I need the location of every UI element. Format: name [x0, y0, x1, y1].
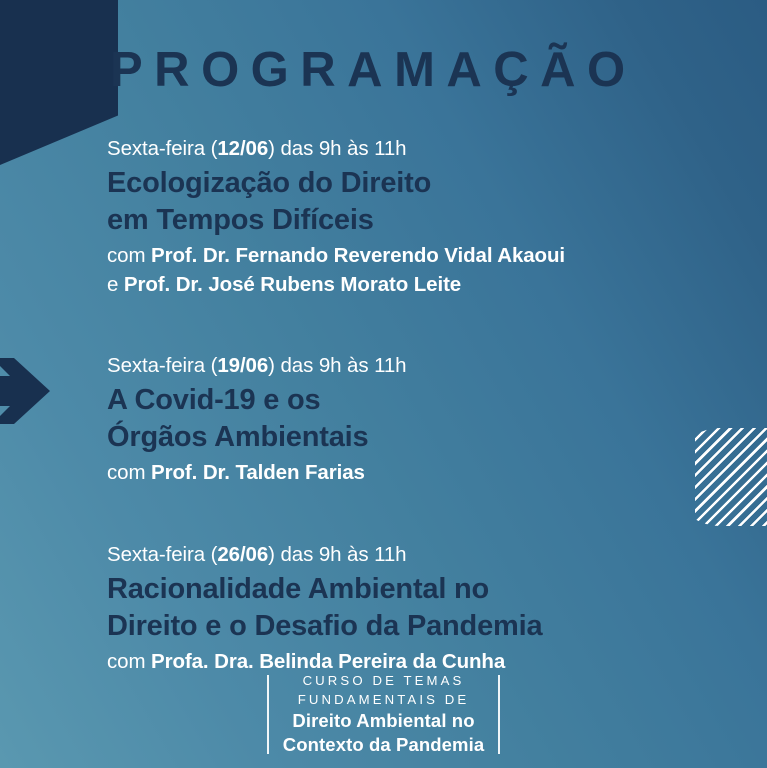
logo-text: CURSO DE TEMAS FUNDAMENTAIS DE Direito A…: [283, 672, 484, 757]
logo-line-3: Direito Ambiental no: [283, 709, 484, 733]
navy-corner-shape: [0, 0, 118, 165]
event-date-value: 26/06: [217, 543, 268, 566]
right-arrow-icon: [0, 355, 52, 427]
event-speaker-line: e Prof. Dr. José Rubens Morato Leite: [107, 271, 727, 299]
speaker-name: Profa. Dra. Belinda Pereira da Cunha: [151, 650, 505, 673]
logo-divider-left: [267, 675, 269, 754]
event-date-suffix: ) das 9h às 11h: [268, 543, 406, 566]
speaker-lead: e: [107, 273, 124, 296]
page-title: PROGRAMAÇÃO: [110, 45, 637, 96]
event-date-suffix: ) das 9h às 11h: [268, 137, 406, 160]
event-speakers: com Prof. Dr. Talden Farias: [107, 459, 727, 487]
event-title: A Covid-19 e os Órgãos Ambientais: [107, 382, 727, 456]
event-date: Sexta-feira (26/06) das 9h às 11h: [107, 540, 727, 569]
logo-divider-right: [498, 675, 500, 754]
event-date: Sexta-feira (12/06) das 9h às 11h: [107, 134, 727, 163]
event-date-prefix: Sexta-feira (: [107, 543, 217, 566]
event-speaker-line: com Prof. Dr. Fernando Reverendo Vidal A…: [107, 242, 727, 270]
speaker-name: Prof. Dr. José Rubens Morato Leite: [124, 273, 461, 296]
event-title-line: A Covid-19 e os: [107, 382, 727, 419]
speaker-name: Prof. Dr. Fernando Reverendo Vidal Akaou…: [151, 244, 565, 267]
logo-line-4: Contexto da Pandemia: [283, 733, 484, 757]
event-title-line: em Tempos Difíceis: [107, 202, 727, 239]
event-date-value: 19/06: [217, 354, 268, 377]
schedule-item: Sexta-feira (12/06) das 9h às 11h Ecolog…: [107, 134, 727, 299]
event-speakers: com Prof. Dr. Fernando Reverendo Vidal A…: [107, 242, 727, 299]
event-date-value: 12/06: [217, 137, 268, 160]
event-title-line: Órgãos Ambientais: [107, 419, 727, 456]
event-date-prefix: Sexta-feira (: [107, 354, 217, 377]
speaker-name: Prof. Dr. Talden Farias: [151, 461, 365, 484]
event-speaker-line: com Prof. Dr. Talden Farias: [107, 459, 727, 487]
speaker-lead: com: [107, 244, 151, 267]
speaker-lead: com: [107, 650, 151, 673]
speaker-lead: com: [107, 461, 151, 484]
poster-canvas: PROGRAMAÇÃO Sexta-feira (12/06) das 9h à…: [0, 0, 767, 768]
schedule-list: Sexta-feira (12/06) das 9h às 11h Ecolog…: [107, 134, 727, 676]
event-date-prefix: Sexta-feira (: [107, 137, 217, 160]
logo-line-1: CURSO DE TEMAS: [283, 672, 484, 691]
footer-logo: CURSO DE TEMAS FUNDAMENTAIS DE Direito A…: [0, 672, 767, 757]
event-title: Ecologização do Direito em Tempos Difíce…: [107, 165, 727, 239]
schedule-item: Sexta-feira (26/06) das 9h às 11h Racion…: [107, 540, 727, 677]
event-title-line: Direito e o Desafio da Pandemia: [107, 608, 727, 645]
schedule-item: Sexta-feira (19/06) das 9h às 11h A Covi…: [107, 351, 727, 488]
event-date: Sexta-feira (19/06) das 9h às 11h: [107, 351, 727, 380]
event-title: Racionalidade Ambiental no Direito e o D…: [107, 571, 727, 645]
event-title-line: Ecologização do Direito: [107, 165, 727, 202]
logo-line-2: FUNDAMENTAIS DE: [283, 691, 484, 710]
event-title-line: Racionalidade Ambiental no: [107, 571, 727, 608]
event-date-suffix: ) das 9h às 11h: [268, 354, 406, 377]
